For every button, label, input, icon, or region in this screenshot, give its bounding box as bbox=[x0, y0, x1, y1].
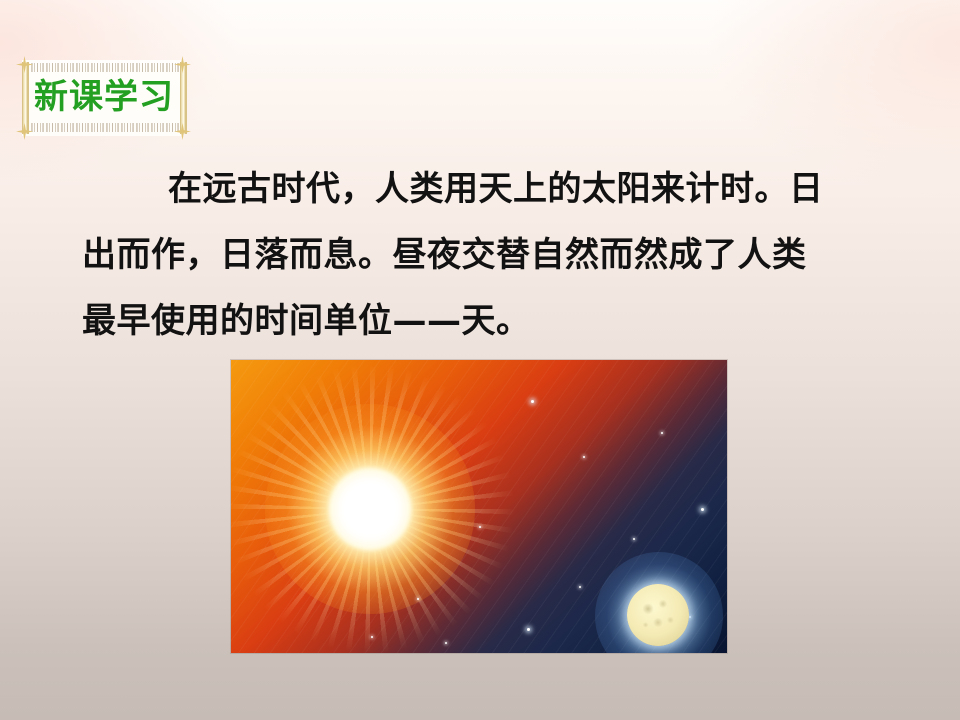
star-icon bbox=[531, 400, 534, 403]
star-icon bbox=[583, 456, 585, 458]
star-icon bbox=[701, 508, 704, 511]
star-icon bbox=[417, 598, 419, 600]
slide-canvas: 新课学习 在远古时代，人类用天上的太阳来计时。日 出而作，日落而息。昼夜交替自然… bbox=[0, 0, 960, 720]
sun-icon bbox=[329, 468, 411, 550]
moon-icon bbox=[627, 584, 689, 646]
body-line-3: 最早使用的时间单位——天。 bbox=[82, 288, 892, 354]
body-paragraph: 在远古时代，人类用天上的太阳来计时。日 出而作，日落而息。昼夜交替自然而然成了人… bbox=[82, 156, 892, 354]
star-icon bbox=[527, 628, 530, 631]
banner-top-edge bbox=[22, 63, 184, 72]
four-point-star-icon bbox=[174, 123, 191, 140]
section-banner: 新课学习 bbox=[8, 60, 198, 136]
four-point-star-icon bbox=[16, 123, 33, 140]
star-icon bbox=[661, 432, 663, 434]
star-icon bbox=[371, 636, 373, 638]
star-icon bbox=[633, 538, 635, 540]
star-icon bbox=[579, 586, 581, 588]
section-title: 新课学习 bbox=[26, 74, 182, 120]
banner-bottom-edge bbox=[22, 123, 184, 132]
four-point-star-icon bbox=[16, 56, 33, 73]
body-line-1: 在远古时代，人类用天上的太阳来计时。日 bbox=[82, 156, 892, 222]
star-icon bbox=[479, 526, 481, 528]
four-point-star-icon bbox=[174, 56, 191, 73]
star-icon bbox=[445, 642, 447, 644]
body-line-2: 出而作，日落而息。昼夜交替自然而然成了人类 bbox=[82, 222, 892, 288]
day-night-image bbox=[231, 360, 727, 653]
